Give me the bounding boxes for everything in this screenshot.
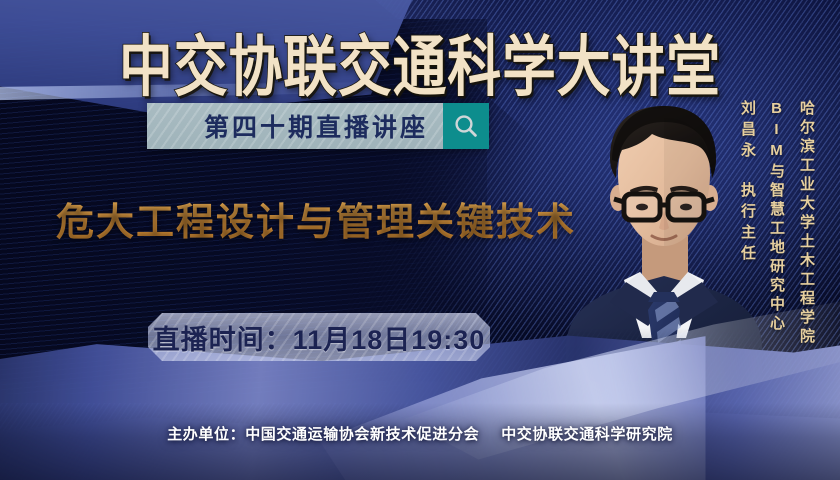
search-button[interactable] bbox=[443, 103, 489, 149]
episode-label: 第四十期直播讲座 bbox=[162, 108, 428, 144]
footer-organizer-primary: 主办单位：中国交通运输协会新技术促进分会 bbox=[167, 426, 479, 443]
speaker-name: 刘昌永 bbox=[737, 100, 758, 163]
schedule-text: 直播时间：11月18日19:30 bbox=[153, 318, 486, 357]
footer-organizers: 主办单位：中国交通运输协会新技术促进分会中交协联交通科学研究院 bbox=[0, 423, 840, 444]
page-title: 中交协联交通科学大讲堂 bbox=[17, 14, 823, 110]
speaker-role: 执行主任 bbox=[737, 182, 758, 266]
schedule-badge: 直播时间：11月18日19:30 bbox=[148, 313, 490, 361]
search-icon bbox=[453, 113, 479, 139]
episode-search-bar[interactable]: 第四十期直播讲座 bbox=[147, 103, 489, 149]
lecture-title: 危大工程设计与管理关键技术 bbox=[56, 191, 576, 246]
footer-organizer-secondary: 中交协联交通科学研究院 bbox=[501, 426, 673, 443]
episode-field[interactable]: 第四十期直播讲座 bbox=[147, 103, 443, 149]
speaker-affiliation: 哈尔滨工业大学土木工程学院 bbox=[796, 100, 817, 347]
speaker-research-center: BIM与智慧工地研究中心 bbox=[766, 100, 787, 334]
webinar-poster: 中交协联交通科学大讲堂 第四十期直播讲座 危大工程设计与管理关键技术 直播时间：… bbox=[0, 0, 840, 480]
